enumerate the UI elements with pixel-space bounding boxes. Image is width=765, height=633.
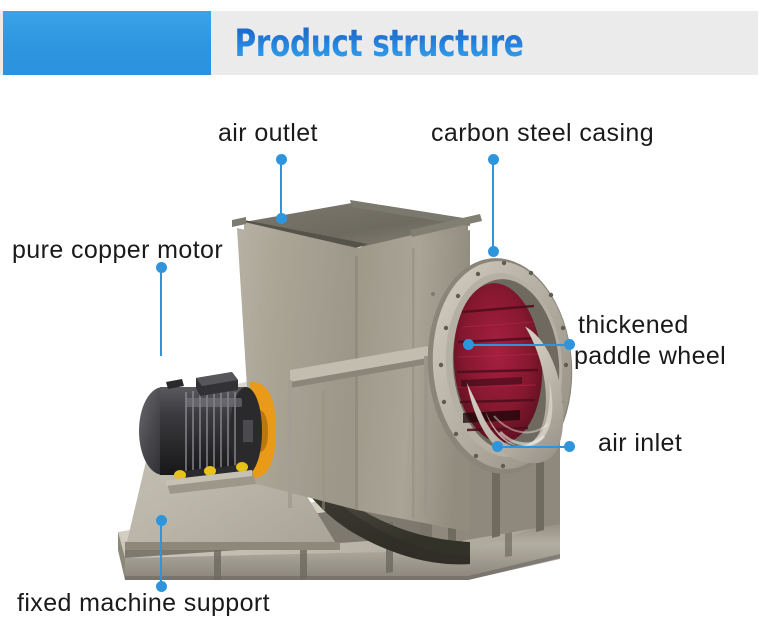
label-thickened-paddle-wheel-line2: paddle wheel — [574, 341, 758, 372]
label-thickened-paddle-wheel-line1: thickened — [578, 310, 758, 341]
label-air-inlet: air inlet — [598, 428, 682, 459]
page-title: Product structure — [76, 16, 682, 72]
leader-line-air-outlet — [280, 159, 282, 219]
leader-line-thickened-paddle-wheel — [468, 344, 570, 346]
leader-line-fixed-machine-support — [160, 520, 162, 586]
leader-dot-fixed-machine-support-target — [156, 515, 167, 526]
leader-dot-thickened-paddle-wheel-target — [463, 339, 474, 350]
product-structure-diagram: Product structure — [0, 0, 765, 633]
pure-copper-motor — [139, 372, 276, 486]
label-air-outlet: air outlet — [218, 118, 318, 149]
leader-dot-air-outlet-label — [276, 154, 287, 165]
label-carbon-steel-casing: carbon steel casing — [431, 118, 654, 149]
label-fixed-machine-support: fixed machine support — [17, 588, 270, 619]
leader-line-pure-copper-motor — [160, 267, 162, 356]
leader-line-carbon-steel-casing — [492, 159, 494, 252]
leader-dot-air-inlet-label — [564, 441, 575, 452]
leader-dot-carbon-steel-casing-label — [488, 154, 499, 165]
leader-dot-air-inlet-target — [492, 441, 503, 452]
leader-line-air-inlet — [497, 446, 570, 448]
leader-dot-air-outlet-target — [276, 213, 287, 224]
leader-dot-carbon-steel-casing-target — [488, 246, 499, 257]
label-pure-copper-motor: pure copper motor — [12, 235, 223, 266]
label-thickened-paddle-wheel: thickened paddle wheel — [578, 310, 758, 372]
